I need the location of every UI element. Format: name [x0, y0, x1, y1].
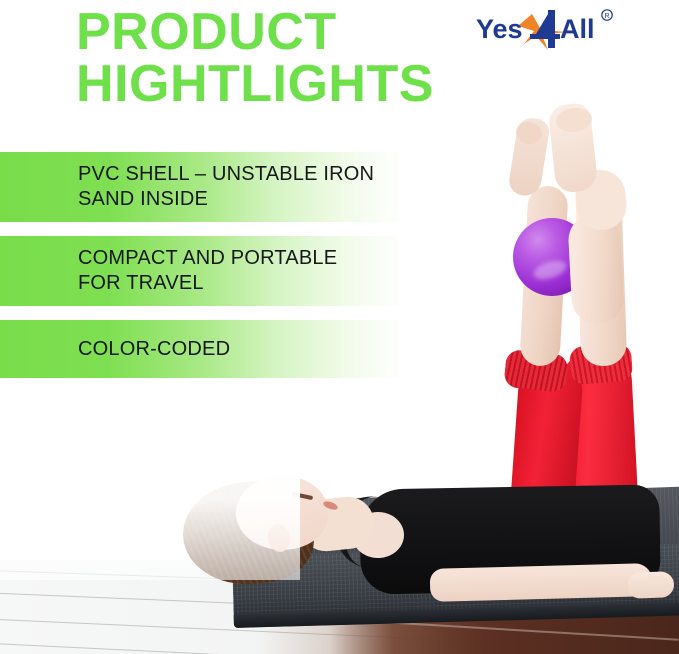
highlight-item: COLOR-CODED — [0, 320, 420, 378]
title-line-2: HIGHTLIGHTS — [76, 58, 416, 110]
highlight-item-label: COLOR-CODED — [78, 337, 230, 362]
title-line-1: PRODUCT — [76, 6, 416, 58]
product-highlights-image: Yes All R PRODUCT HIGHTLIGHTS PVC SHELL … — [0, 0, 679, 654]
content-layer: Yes All R PRODUCT HIGHTLIGHTS PVC SHELL … — [0, 0, 679, 654]
highlight-item-label: PVC SHELL – UNSTABLE IRON SAND INSIDE — [78, 162, 374, 212]
svg-text:R: R — [604, 13, 609, 20]
svg-text:Yes: Yes — [476, 14, 523, 44]
highlight-item: COMPACT AND PORTABLE FOR TRAVEL — [0, 236, 420, 306]
highlight-item: PVC SHELL – UNSTABLE IRON SAND INSIDE — [0, 152, 420, 222]
yes4all-logo: Yes All R — [474, 6, 644, 52]
highlight-list: PVC SHELL – UNSTABLE IRON SAND INSIDE CO… — [0, 152, 420, 392]
highlight-item-label: COMPACT AND PORTABLE FOR TRAVEL — [78, 246, 337, 296]
svg-text:All: All — [560, 14, 595, 44]
page-title: PRODUCT HIGHTLIGHTS — [76, 6, 416, 110]
